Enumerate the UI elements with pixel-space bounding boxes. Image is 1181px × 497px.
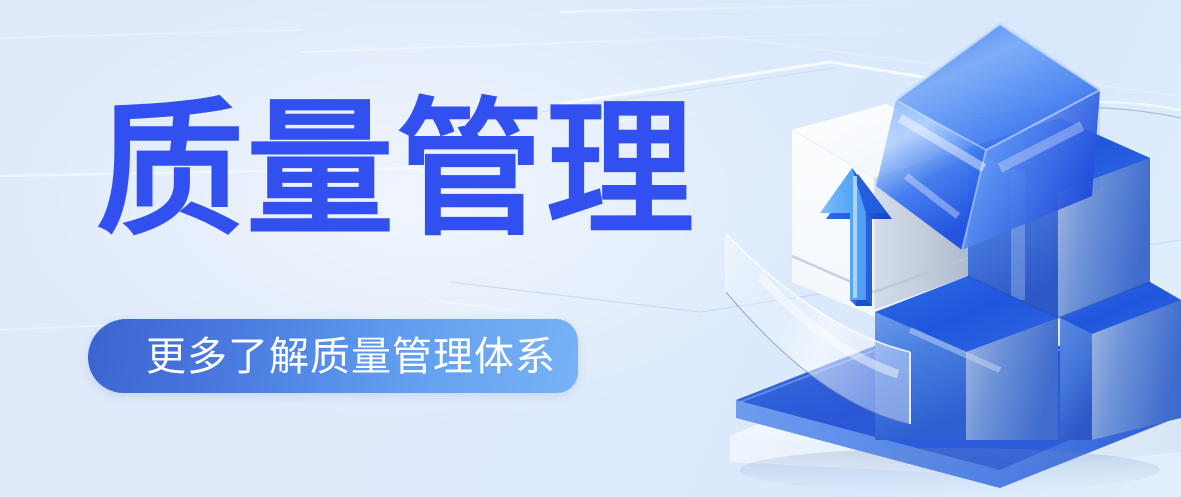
page-title: 质量管理 xyxy=(96,96,696,244)
contact-shadow xyxy=(740,448,1160,492)
quality-management-banner: 质量管理 更多了解质量管理体系 xyxy=(0,0,1181,497)
hero-illustration xyxy=(700,0,1181,497)
cta-button-label: 更多了解质量管理体系 xyxy=(146,336,556,378)
